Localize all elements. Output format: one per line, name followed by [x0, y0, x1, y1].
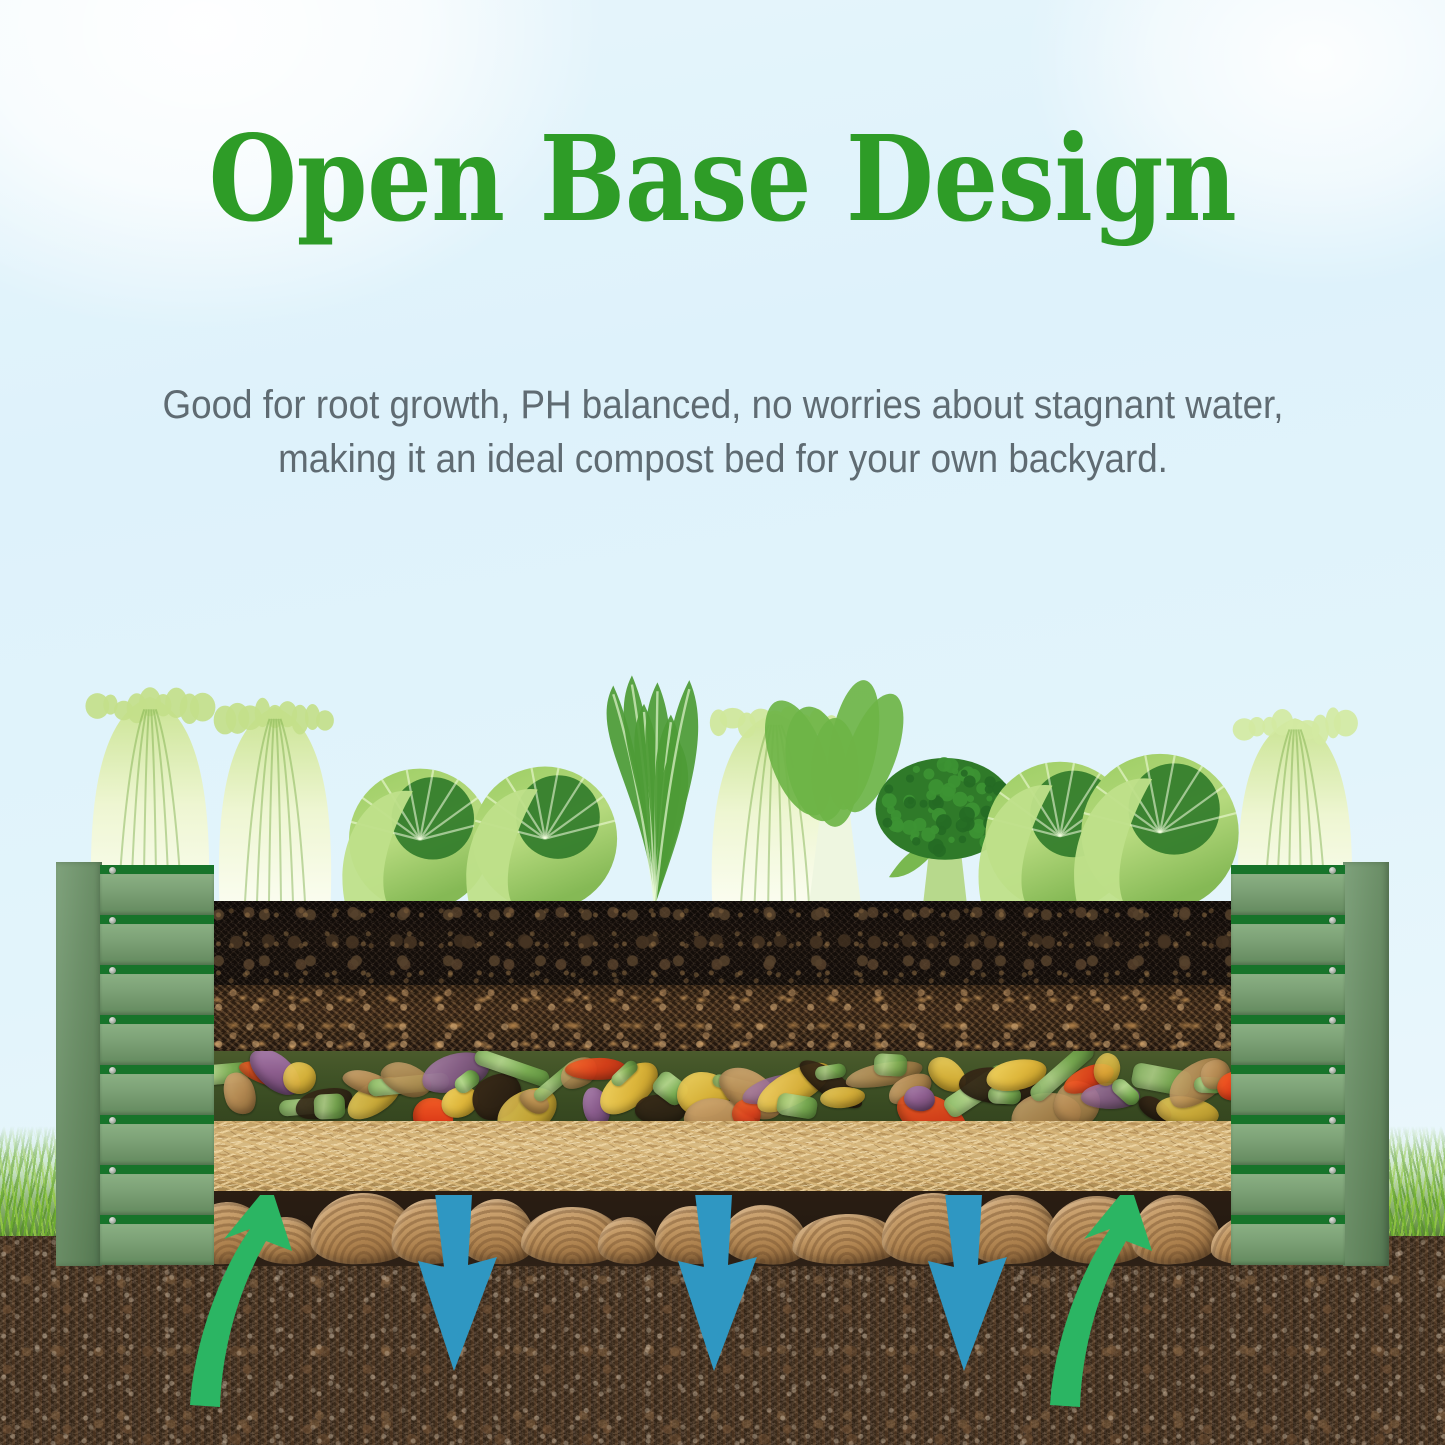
post-slat: [100, 915, 214, 965]
subtitle-line-2: making it an ideal compost bed for your …: [97, 432, 1348, 486]
post-slat: [1231, 915, 1345, 965]
plant-napa-cabbage: [214, 698, 334, 905]
post-slat: [1231, 1015, 1345, 1065]
infographic-page: Open Base Design Good for root growth, P…: [0, 0, 1445, 1445]
post-slat: [100, 1115, 214, 1165]
kitchen-scrap-leek: [313, 1093, 345, 1119]
kitchen-scrap-leek: [775, 1092, 818, 1120]
plant-cabbage-head: [466, 767, 617, 911]
soil-layer-compost: [212, 985, 1234, 1051]
screw-icon: [1329, 1067, 1336, 1074]
airflow-arrow-down-2: [678, 1195, 757, 1371]
post-slat: [1231, 1115, 1345, 1165]
screw-icon: [109, 1167, 116, 1174]
screw-icon: [1329, 967, 1336, 974]
soil-layer-kitchen-scraps: [212, 1051, 1234, 1121]
post-slat: [1231, 1065, 1345, 1115]
screw-icon: [1329, 1017, 1336, 1024]
airflow-arrow-up-right: [1050, 1195, 1152, 1407]
kitchen-scrap-leek: [873, 1053, 908, 1077]
airflow-arrow-up-left: [190, 1195, 292, 1407]
airflow-arrows: [0, 1195, 1445, 1445]
screw-icon: [109, 867, 116, 874]
screw-icon: [109, 967, 116, 974]
screw-icon: [109, 1067, 116, 1074]
screw-icon: [1329, 867, 1336, 874]
subtitle-line-1: Good for root growth, PH balanced, no wo…: [97, 378, 1348, 432]
post-slat: [100, 1015, 214, 1065]
post-slat: [1231, 965, 1345, 1015]
screw-icon: [1329, 1167, 1336, 1174]
screw-icon: [1329, 1117, 1336, 1124]
soil-layer-topsoil: [212, 901, 1234, 985]
screw-icon: [109, 1117, 116, 1124]
screw-icon: [109, 917, 116, 924]
plant-swiss-chard: [607, 675, 699, 905]
soil-layer-straw: [212, 1121, 1234, 1191]
airflow-arrow-down-3: [928, 1195, 1007, 1371]
screw-icon: [109, 1017, 116, 1024]
page-subtitle: Good for root growth, PH balanced, no wo…: [97, 378, 1348, 487]
screw-icon: [1329, 917, 1336, 924]
airflow-arrow-down-1: [418, 1195, 497, 1371]
post-slat: [100, 965, 214, 1015]
post-slat: [1231, 865, 1345, 915]
post-slat: [100, 1065, 214, 1115]
page-title: Open Base Design: [101, 116, 1344, 241]
post-slat: [100, 865, 214, 915]
